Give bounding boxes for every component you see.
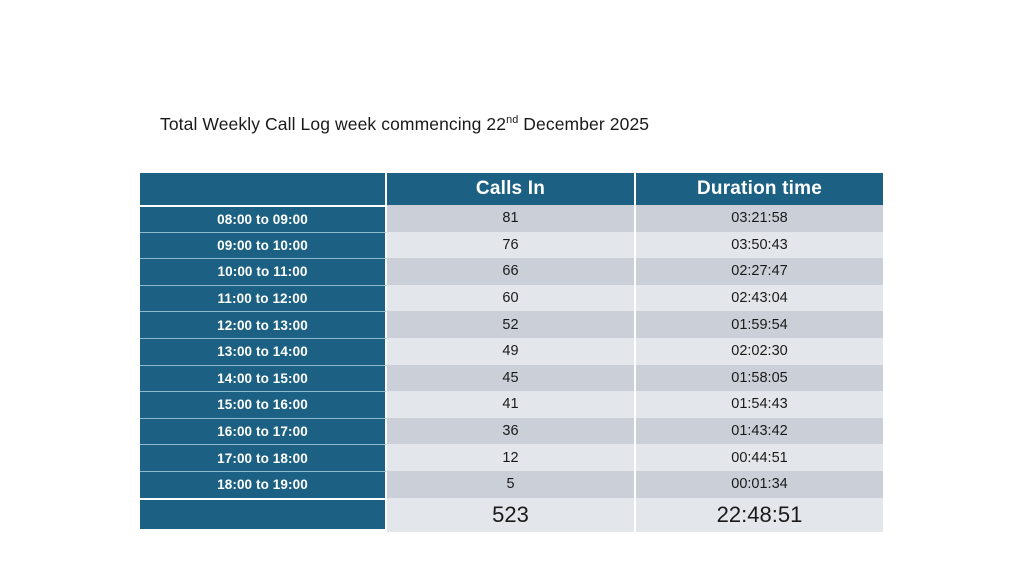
cell-duration-time: 02:27:47 bbox=[636, 258, 883, 285]
row-label-time-range: 15:00 to 16:00 bbox=[140, 391, 387, 418]
table-row: 11:00 to 12:006002:43:04 bbox=[140, 285, 883, 312]
total-row-label bbox=[140, 498, 387, 532]
page-title: Total Weekly Call Log week commencing 22… bbox=[160, 113, 649, 135]
cell-calls-in: 12 bbox=[387, 444, 636, 471]
cell-calls-in: 60 bbox=[387, 285, 636, 312]
table-row: 09:00 to 10:007603:50:43 bbox=[140, 232, 883, 259]
table-header-row: Calls In Duration time bbox=[140, 173, 883, 205]
row-label-time-range: 12:00 to 13:00 bbox=[140, 311, 387, 338]
cell-calls-in: 49 bbox=[387, 338, 636, 365]
column-header-duration-time: Duration time bbox=[636, 173, 883, 205]
table-row: 17:00 to 18:001200:44:51 bbox=[140, 444, 883, 471]
cell-duration-time: 03:50:43 bbox=[636, 232, 883, 259]
row-label-time-range: 13:00 to 14:00 bbox=[140, 338, 387, 365]
row-label-time-range: 09:00 to 10:00 bbox=[140, 232, 387, 259]
table-row: 10:00 to 11:006602:27:47 bbox=[140, 258, 883, 285]
cell-duration-time: 01:59:54 bbox=[636, 311, 883, 338]
cell-calls-in: 66 bbox=[387, 258, 636, 285]
cell-duration-time: 02:02:30 bbox=[636, 338, 883, 365]
page-title-prefix: Total Weekly Call Log week commencing 22 bbox=[160, 114, 506, 134]
row-label-time-range: 11:00 to 12:00 bbox=[140, 285, 387, 312]
cell-duration-time: 01:58:05 bbox=[636, 365, 883, 392]
table-header: Calls In Duration time bbox=[140, 173, 883, 205]
row-label-time-range: 10:00 to 11:00 bbox=[140, 258, 387, 285]
cell-duration-time: 01:43:42 bbox=[636, 418, 883, 445]
cell-duration-time: 00:01:34 bbox=[636, 471, 883, 498]
cell-calls-in: 36 bbox=[387, 418, 636, 445]
row-label-time-range: 14:00 to 15:00 bbox=[140, 365, 387, 392]
cell-duration-time: 01:54:43 bbox=[636, 391, 883, 418]
row-label-time-range: 17:00 to 18:00 bbox=[140, 444, 387, 471]
table-row: 18:00 to 19:00500:01:34 bbox=[140, 471, 883, 498]
cell-calls-in: 76 bbox=[387, 232, 636, 259]
total-row: 523 22:48:51 bbox=[140, 498, 883, 532]
table-row: 15:00 to 16:004101:54:43 bbox=[140, 391, 883, 418]
table-row: 14:00 to 15:004501:58:05 bbox=[140, 365, 883, 392]
cell-duration-time: 00:44:51 bbox=[636, 444, 883, 471]
row-label-time-range: 08:00 to 09:00 bbox=[140, 205, 387, 232]
cell-calls-in: 5 bbox=[387, 471, 636, 498]
table-row: 13:00 to 14:004902:02:30 bbox=[140, 338, 883, 365]
call-log-table: Calls In Duration time 08:00 to 09:00810… bbox=[140, 173, 883, 532]
cell-duration-time: 03:21:58 bbox=[636, 205, 883, 232]
cell-calls-in: 45 bbox=[387, 365, 636, 392]
table-row: 12:00 to 13:005201:59:54 bbox=[140, 311, 883, 338]
cell-calls-in: 41 bbox=[387, 391, 636, 418]
table-row: 08:00 to 09:008103:21:58 bbox=[140, 205, 883, 232]
slide-canvas: Total Weekly Call Log week commencing 22… bbox=[0, 0, 1024, 576]
row-label-time-range: 16:00 to 17:00 bbox=[140, 418, 387, 445]
column-header-calls-in: Calls In bbox=[387, 173, 636, 205]
row-label-time-range: 18:00 to 19:00 bbox=[140, 471, 387, 498]
cell-calls-in: 52 bbox=[387, 311, 636, 338]
total-calls-in: 523 bbox=[387, 498, 636, 532]
page-title-ordinal: nd bbox=[506, 114, 518, 126]
total-duration-time: 22:48:51 bbox=[636, 498, 883, 532]
cell-duration-time: 02:43:04 bbox=[636, 285, 883, 312]
page-title-suffix: December 2025 bbox=[518, 114, 649, 134]
table-row: 16:00 to 17:003601:43:42 bbox=[140, 418, 883, 445]
cell-calls-in: 81 bbox=[387, 205, 636, 232]
column-header-time-range bbox=[140, 173, 387, 205]
table-body: 08:00 to 09:008103:21:5809:00 to 10:0076… bbox=[140, 205, 883, 498]
table-footer: 523 22:48:51 bbox=[140, 498, 883, 532]
